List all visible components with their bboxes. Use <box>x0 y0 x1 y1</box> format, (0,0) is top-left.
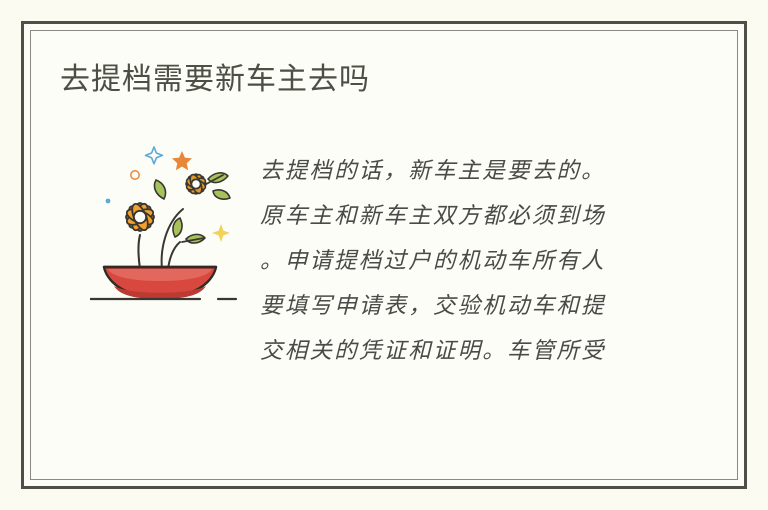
sparkle-orange-star-icon <box>172 151 192 170</box>
sparkle-orange-circle-icon <box>131 171 139 179</box>
article-card-page: 去提档需要新车主去吗 <box>0 0 768 510</box>
flower-stem-front <box>139 235 141 269</box>
article-text: 去提档的话，新车主是要去的。 原车主和新车主双方都必须到场 。申请提档过户的机动… <box>260 135 712 374</box>
article-line: 原车主和新车主双方都必须到场 <box>260 194 712 239</box>
potted-flowers-illustration <box>90 139 250 314</box>
article-line: 去提档的话，新车主是要去的。 <box>260 149 712 194</box>
article-line: 交相关的凭证和证明。车管所受 <box>260 329 712 374</box>
flower-main <box>125 202 155 232</box>
card-content: 去提档需要新车主去吗 <box>30 30 738 480</box>
flower-bowl <box>104 267 216 299</box>
leaf-group-lower <box>168 218 205 269</box>
article-line: 。申请提档过户的机动车所有人 <box>260 239 712 284</box>
flower-upper-right <box>185 173 207 195</box>
sparkle-blue-icon <box>146 147 163 164</box>
page-title: 去提档需要新车主去吗 <box>60 60 370 100</box>
article-body-row: 去提档的话，新车主是要去的。 原车主和新车主双方都必须到场 。申请提档过户的机动… <box>52 135 712 374</box>
article-line: 要填写申请表，交验机动车和提 <box>260 284 712 329</box>
sparkle-blue-dot-icon <box>106 199 111 204</box>
sparkle-yellow-icon <box>212 224 230 242</box>
